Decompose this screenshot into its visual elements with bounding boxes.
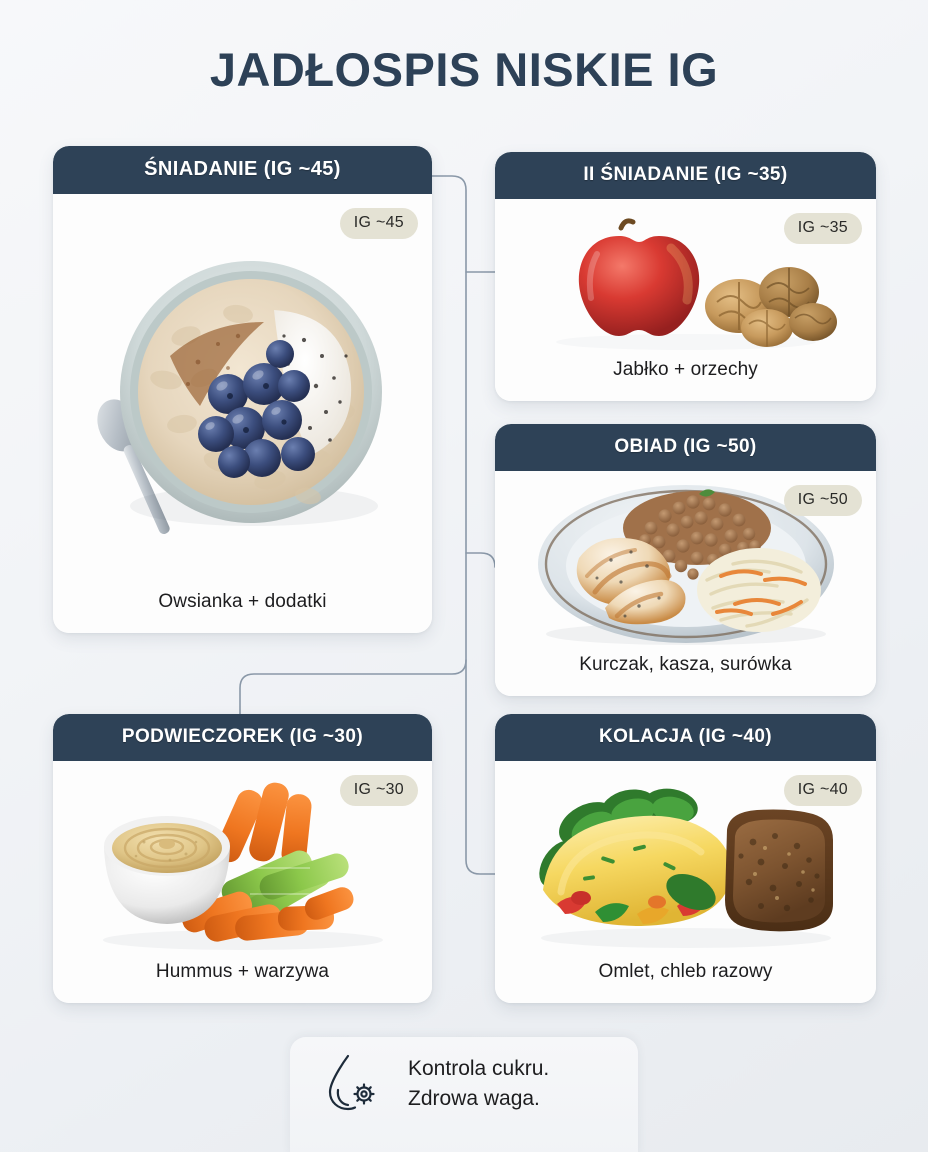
meal-card-lunch-header: OBIAD (IG ~50) [495,424,876,471]
meal-card-dinner-caption: Omlet, chleb razowy [594,955,776,999]
meal-card-afternoon-snack[interactable]: PODWIECZOREK (IG ~30) IG ~30 [53,714,432,1003]
footer-note: Kontrola cukru. Zdrowa waga. [290,1037,638,1152]
meal-card-lunch-body: IG ~50 [495,471,876,696]
meal-card-lunch[interactable]: OBIAD (IG ~50) IG ~50 [495,424,876,696]
gi-badge-second-breakfast: IG ~35 [784,213,862,244]
footer-note-text: Kontrola cukru. Zdrowa waga. [408,1054,549,1115]
meal-card-breakfast-header: ŚNIADANIE (IG ~45) [53,146,432,194]
meal-card-dinner-body: IG ~40 [495,761,876,1003]
meal-card-lunch-caption: Kurczak, kasza, surówka [575,648,795,692]
meal-card-dinner-header: KOLACJA (IG ~40) [495,714,876,761]
meal-card-breakfast-caption: Owsianka + dodatki [154,585,330,629]
meal-card-afternoon-snack-header: PODWIECZOREK (IG ~30) [53,714,432,761]
water-drop-gear-icon [324,1050,386,1119]
meal-card-afternoon-snack-caption: Hummus + warzywa [152,955,333,999]
meal-cards-board: ŚNIADANIE (IG ~45) IG ~45 [0,0,928,1152]
oatmeal-bowl-blueberries-image [63,202,422,585]
meal-card-second-breakfast-body: IG ~35 [495,199,876,401]
meal-card-breakfast[interactable]: ŚNIADANIE (IG ~45) IG ~45 [53,146,432,633]
gi-badge-lunch: IG ~50 [784,485,862,516]
meal-card-breakfast-body: IG ~45 [53,194,432,633]
meal-card-afternoon-snack-body: IG ~30 [53,761,432,1003]
meal-card-second-breakfast-caption: Jabłko + orzechy [609,353,762,397]
meal-card-second-breakfast[interactable]: II ŚNIADANIE (IG ~35) IG ~35 [495,152,876,401]
meal-card-dinner[interactable]: KOLACJA (IG ~40) IG ~40 [495,714,876,1003]
gi-badge-afternoon-snack: IG ~30 [340,775,418,806]
gi-badge-dinner: IG ~40 [784,775,862,806]
meal-card-second-breakfast-header: II ŚNIADANIE (IG ~35) [495,152,876,199]
gi-badge-breakfast: IG ~45 [340,208,418,239]
